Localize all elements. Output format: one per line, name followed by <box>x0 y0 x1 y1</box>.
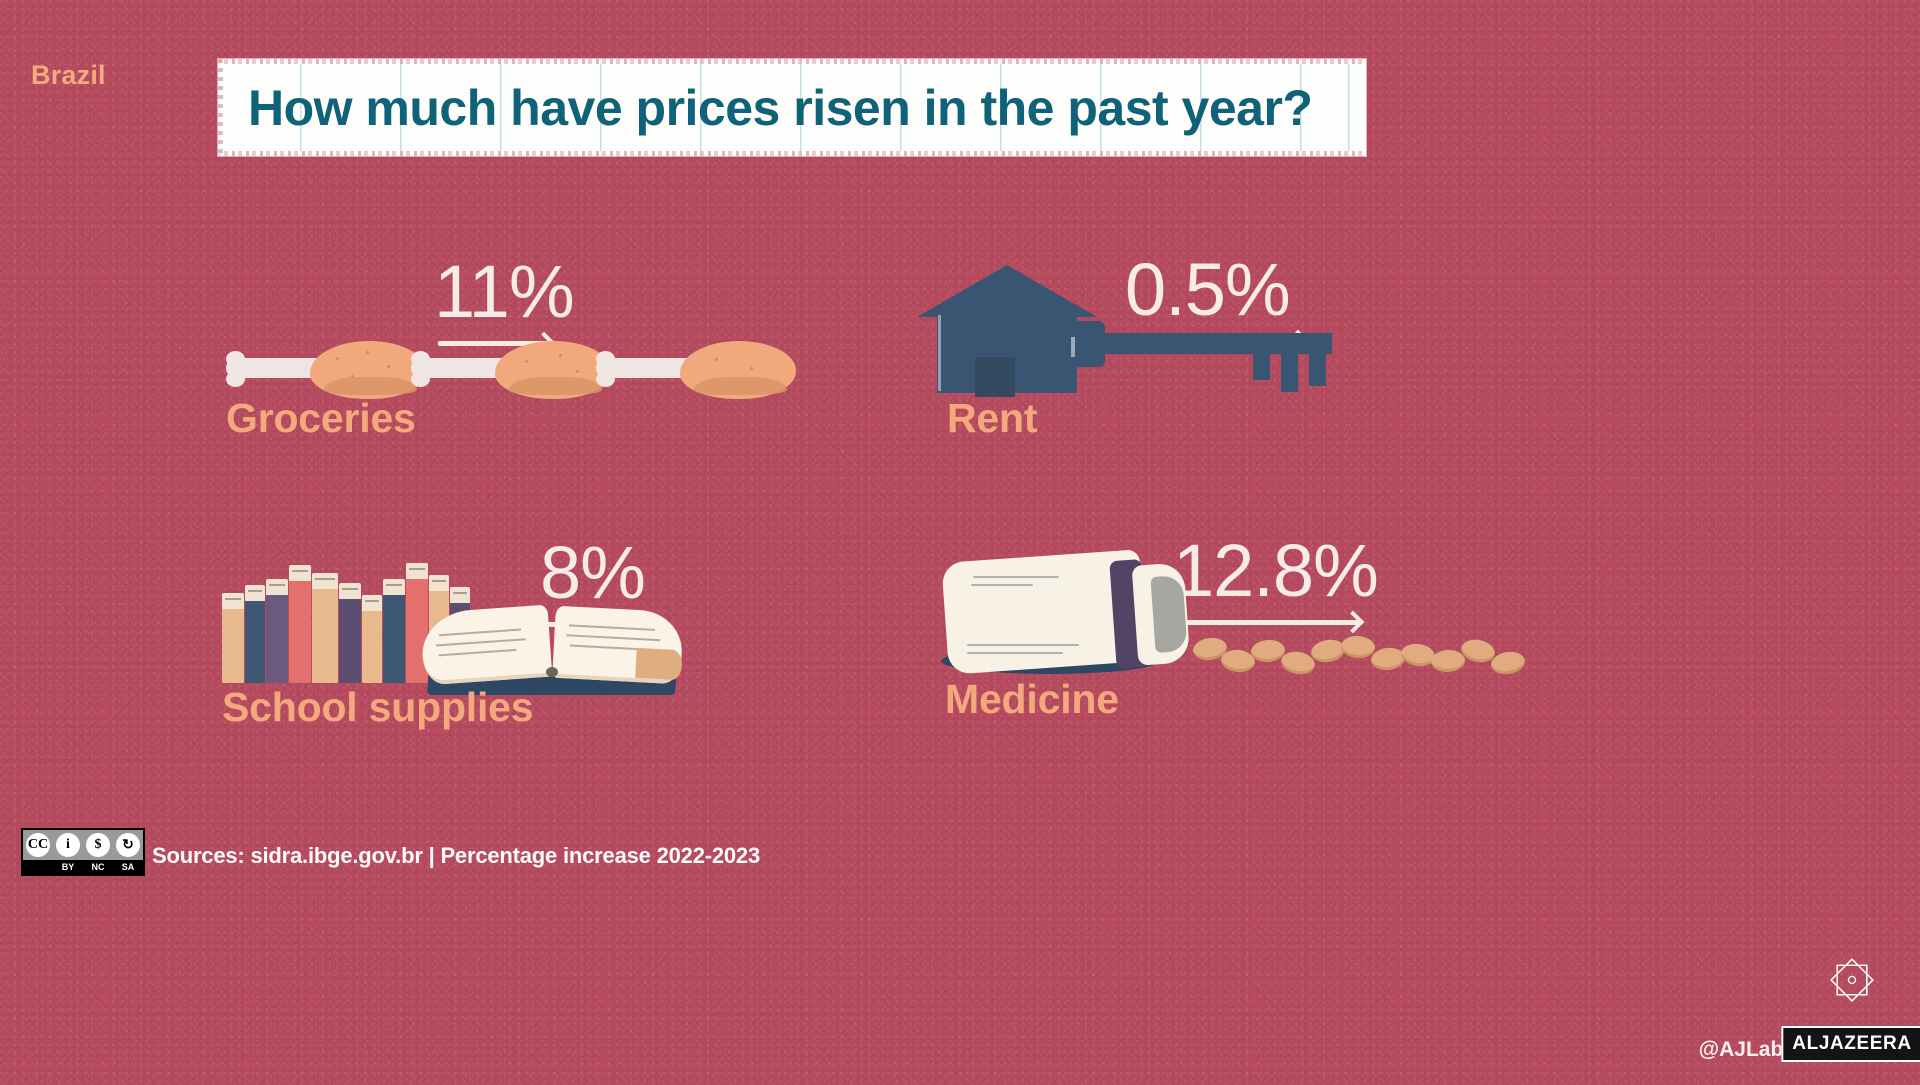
cc-by-icon: i <box>53 830 83 860</box>
stat-card-medicine: 12.8% Medicine <box>945 540 1585 790</box>
cc-sa-icon: ↻ <box>113 830 143 860</box>
paper-torn-top-edge <box>218 59 1366 64</box>
stat-value-medicine: 12.8% <box>1173 534 1378 608</box>
cc-icon: CC <box>23 830 53 860</box>
stat-value-groceries: 11% <box>434 255 574 329</box>
page-title: How much have prices risen in the past y… <box>248 79 1312 137</box>
stat-card-school-supplies: 8% <box>222 540 862 790</box>
aljazeera-wordmark: ALJAZEERA <box>1781 1026 1920 1062</box>
aljazeera-logo: ۞ ALJAZEERA <box>1802 930 1902 1070</box>
paper-torn-left-edge <box>218 59 223 156</box>
cc-by-label: BY <box>53 862 83 872</box>
cc-sa-label: SA <box>113 862 143 872</box>
increase-arrow-icon-medicine <box>1167 612 1359 634</box>
paper-torn-bottom-edge <box>218 151 1366 156</box>
title-card: How much have prices risen in the past y… <box>218 59 1366 156</box>
aljazeera-flame-icon: ۞ <box>1829 930 1875 1004</box>
cc-nc-label: NC <box>83 862 113 872</box>
stat-card-groceries: 11% G <box>226 255 846 505</box>
category-label-groceries: Groceries <box>226 395 416 442</box>
region-label: Brazil <box>31 60 106 91</box>
source-attribution: Sources: sidra.ibge.gov.br | Percentage … <box>152 843 760 869</box>
category-label-rent: Rent <box>947 395 1037 442</box>
stat-value-rent: 0.5% <box>1125 253 1290 327</box>
category-label-school-supplies: School supplies <box>222 684 533 731</box>
creative-commons-license-badge: CC i $ ↻ . BY NC SA <box>21 828 145 876</box>
cc-nc-icon: $ <box>83 830 113 860</box>
stat-value-school-supplies: 8% <box>540 536 645 610</box>
category-label-medicine: Medicine <box>945 676 1119 723</box>
stat-card-rent: 0.5% Rent <box>925 255 1545 505</box>
